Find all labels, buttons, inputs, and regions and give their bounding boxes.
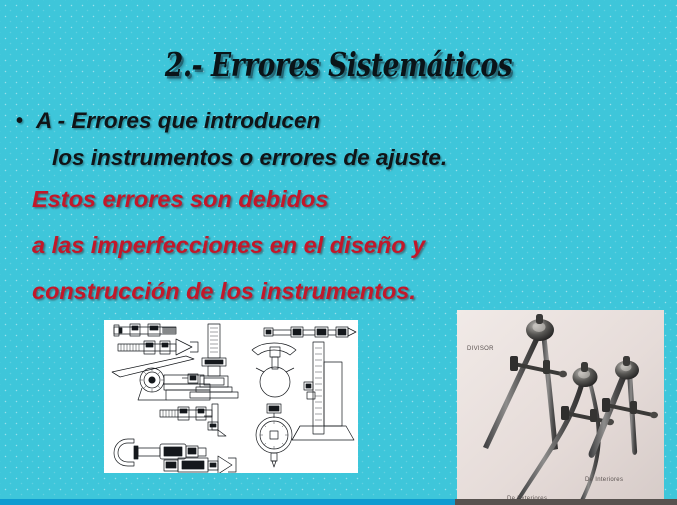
bottom-bar-right-segment [455, 499, 677, 505]
body-line-4: a las imperfecciones en el diseño y [32, 234, 425, 258]
page-title: 2.- Errores Sistemáticos [68, 45, 610, 84]
body-line-2: los instrumentos o errores de ajuste. [52, 147, 447, 170]
measuring-instruments-line-drawing-image [104, 320, 358, 473]
bullet-icon: • [16, 111, 23, 131]
bullet-item-label: A - Errores que introducen [36, 108, 320, 133]
compasses-photograph-image: DIVISOR De Interiores De Exteriores [457, 310, 664, 505]
body-line-5: construcción de los instrumentos. [32, 280, 416, 304]
body-line-3: Estos errores son debidos [32, 188, 328, 212]
bottom-bar-left-segment [0, 499, 455, 505]
bullet-list-item: • A - Errores que introducen [36, 110, 320, 133]
photo-label-divisor: DIVISOR [467, 346, 494, 352]
photo-label-interiores: De Interiores [585, 477, 623, 483]
slide: 2.- Errores Sistemáticos • A - Errores q… [0, 0, 677, 505]
bottom-accent-bar [0, 499, 677, 505]
